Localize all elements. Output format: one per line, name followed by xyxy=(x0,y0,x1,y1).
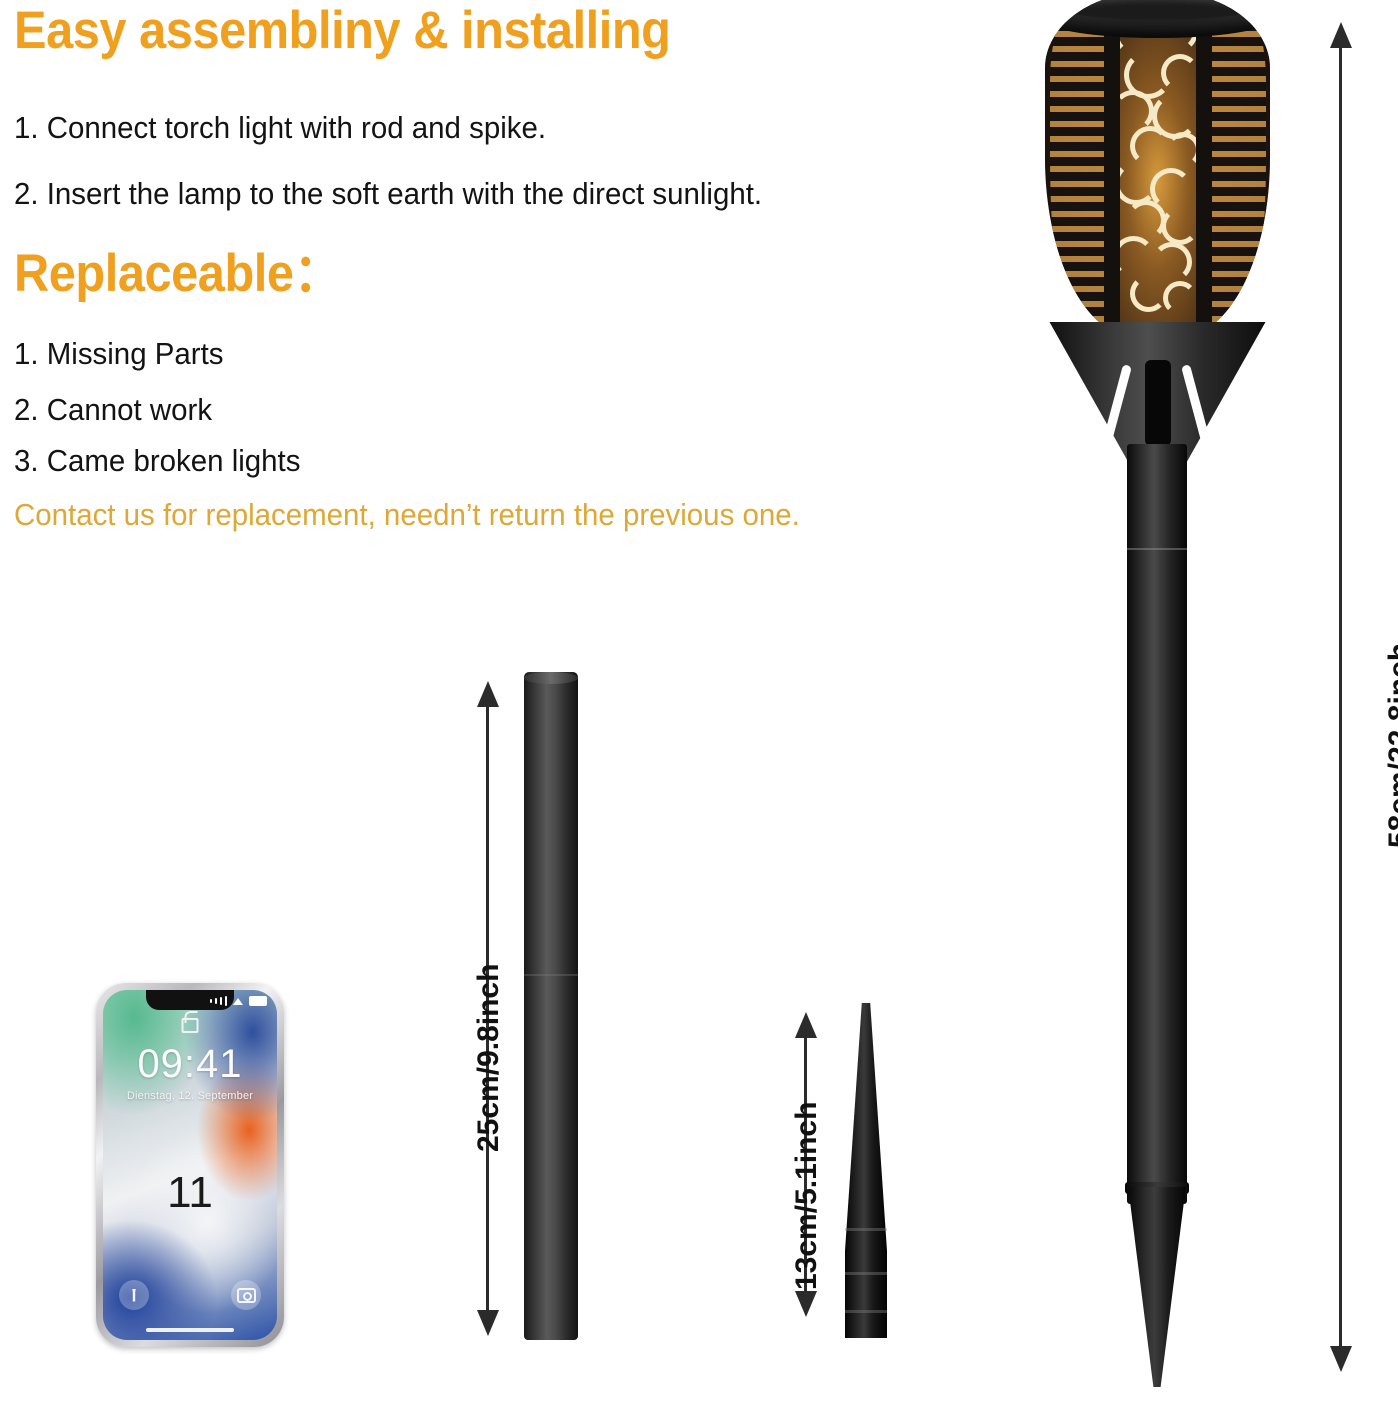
torch-pole-joint xyxy=(1127,548,1187,550)
phone-screen: 09:41 Dienstag, 12. September 11 xyxy=(103,990,277,1340)
dimension-arrow-up-total xyxy=(1330,22,1352,48)
torch-cone-center xyxy=(1145,360,1171,446)
dimension-arrow-up-rod xyxy=(477,681,499,707)
phone-reference-number: 11 xyxy=(103,1168,277,1218)
assembly-heading: Easy assembliny & installing xyxy=(14,2,670,60)
torch-solar-panel-rim xyxy=(1045,0,1270,38)
signal-bars-icon xyxy=(225,996,227,1006)
flashlight-button[interactable] xyxy=(119,1280,149,1310)
torch-pillar-left xyxy=(1104,0,1120,337)
torch-pole xyxy=(1127,444,1187,1204)
wifi-icon xyxy=(233,998,243,1005)
rod-dimension-label: 25cm/9.8inch xyxy=(472,964,506,1152)
phone-lockscreen-date: Dienstag, 12. September xyxy=(103,1090,277,1102)
torch-slats-left xyxy=(1050,0,1109,337)
flashlight-icon xyxy=(131,1289,137,1302)
dimension-arrow-down-total xyxy=(1330,1346,1352,1372)
spike-rib-1 xyxy=(845,1228,887,1231)
assembly-step-1: 1. Connect torch light with rod and spik… xyxy=(14,110,546,146)
contact-replacement-note: Contact us for replacement, needn’t retu… xyxy=(14,497,800,533)
dimension-line-total xyxy=(1339,46,1342,1346)
phone-home-indicator xyxy=(146,1328,234,1332)
replaceable-heading: Replaceable： xyxy=(14,245,342,303)
phone-size-reference: 09:41 Dienstag, 12. September 11 xyxy=(96,983,284,1347)
replaceable-reason-2: 2. Cannot work xyxy=(14,392,212,428)
torch-pillar-right xyxy=(1196,0,1212,337)
extension-rod-seam xyxy=(524,974,578,976)
torch-slats-right xyxy=(1207,0,1266,337)
signal-bars-icon xyxy=(215,998,217,1004)
battery-icon xyxy=(249,996,267,1006)
assembled-torch-light-image xyxy=(1045,0,1270,1392)
dimension-arrow-down-spike xyxy=(795,1291,817,1317)
ground-spike-image xyxy=(845,1003,887,1338)
camera-icon xyxy=(237,1288,256,1303)
spike-rib-3 xyxy=(845,1310,887,1313)
phone-status-bar xyxy=(210,996,267,1006)
lock-icon xyxy=(182,1018,199,1033)
phone-lockscreen-time: 09:41 xyxy=(103,1042,277,1087)
spike-dimension-label: 13cm/5.1inch xyxy=(790,1102,824,1290)
spike-rib-2 xyxy=(845,1272,887,1275)
extension-rod-image xyxy=(524,672,578,1340)
replaceable-reason-3: 3. Came broken lights xyxy=(14,443,300,479)
flame-pattern-panel xyxy=(1108,2,1207,326)
signal-bars-icon xyxy=(210,999,212,1003)
assembly-step-2: 2. Insert the lamp to the soft earth wit… xyxy=(14,176,762,212)
torch-head xyxy=(1045,0,1270,337)
torch-ground-spike xyxy=(1127,1187,1187,1387)
product-infographic: Easy assembliny & installing 1. Connect … xyxy=(0,0,1398,1411)
dimension-arrow-down-rod xyxy=(477,1310,499,1336)
dimension-arrow-up-spike xyxy=(795,1012,817,1038)
replaceable-reason-1: 1. Missing Parts xyxy=(14,336,223,372)
signal-bars-icon xyxy=(220,997,222,1005)
torch-total-dimension-label: 58cm/22.8inch xyxy=(1383,643,1398,848)
camera-button[interactable] xyxy=(231,1280,261,1310)
